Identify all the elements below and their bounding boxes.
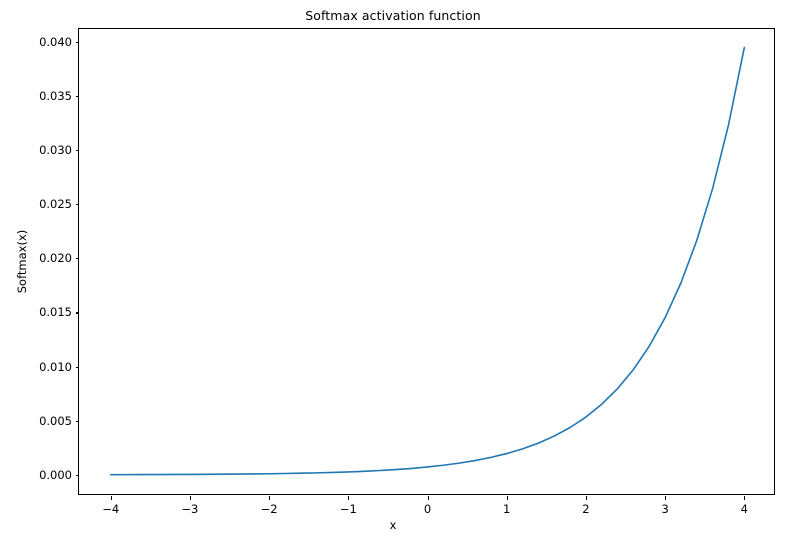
x-tick-mark <box>665 496 666 500</box>
y-tick-label: 0.010 <box>17 360 72 374</box>
y-tick-label: 0.000 <box>17 468 72 482</box>
x-tick-mark <box>269 496 270 500</box>
chart-title: Softmax activation function <box>0 8 786 23</box>
x-tick-label: 0 <box>424 502 431 516</box>
y-tick-mark <box>76 204 80 205</box>
y-tick-mark <box>76 150 80 151</box>
plot-axes: 0.0000.0050.0100.0150.0200.0250.0300.035… <box>78 28 775 495</box>
x-tick-label: 3 <box>661 502 668 516</box>
x-tick-mark <box>428 496 429 500</box>
plot-area <box>79 29 776 496</box>
x-tick-mark <box>190 496 191 500</box>
y-tick-mark <box>76 96 80 97</box>
x-tick-mark <box>111 496 112 500</box>
y-tick-mark <box>76 312 80 313</box>
y-tick-label: 0.030 <box>17 143 72 157</box>
y-tick-mark <box>76 258 80 259</box>
x-tick-mark <box>507 496 508 500</box>
x-tick-label: −4 <box>102 502 119 516</box>
x-tick-label: −1 <box>340 502 357 516</box>
y-tick-mark <box>76 42 80 43</box>
y-tick-label: 0.040 <box>17 35 72 49</box>
softmax-curve <box>111 48 745 475</box>
x-tick-mark <box>586 496 587 500</box>
y-tick-label: 0.025 <box>17 197 72 211</box>
y-tick-label: 0.015 <box>17 305 72 319</box>
x-tick-label: −3 <box>181 502 198 516</box>
x-tick-label: 4 <box>741 502 748 516</box>
y-tick-label: 0.005 <box>17 414 72 428</box>
x-axis-label: x <box>0 518 786 532</box>
y-tick-mark <box>76 475 80 476</box>
x-tick-label: 1 <box>503 502 510 516</box>
y-tick-label: 0.020 <box>17 251 72 265</box>
x-tick-mark <box>348 496 349 500</box>
y-tick-mark <box>76 367 80 368</box>
x-tick-mark <box>744 496 745 500</box>
x-tick-label: 2 <box>582 502 589 516</box>
matplotlib-figure: Softmax activation function Softmax(x) x… <box>0 0 786 547</box>
y-tick-mark <box>76 421 80 422</box>
y-tick-label: 0.035 <box>17 89 72 103</box>
x-tick-label: −2 <box>261 502 278 516</box>
